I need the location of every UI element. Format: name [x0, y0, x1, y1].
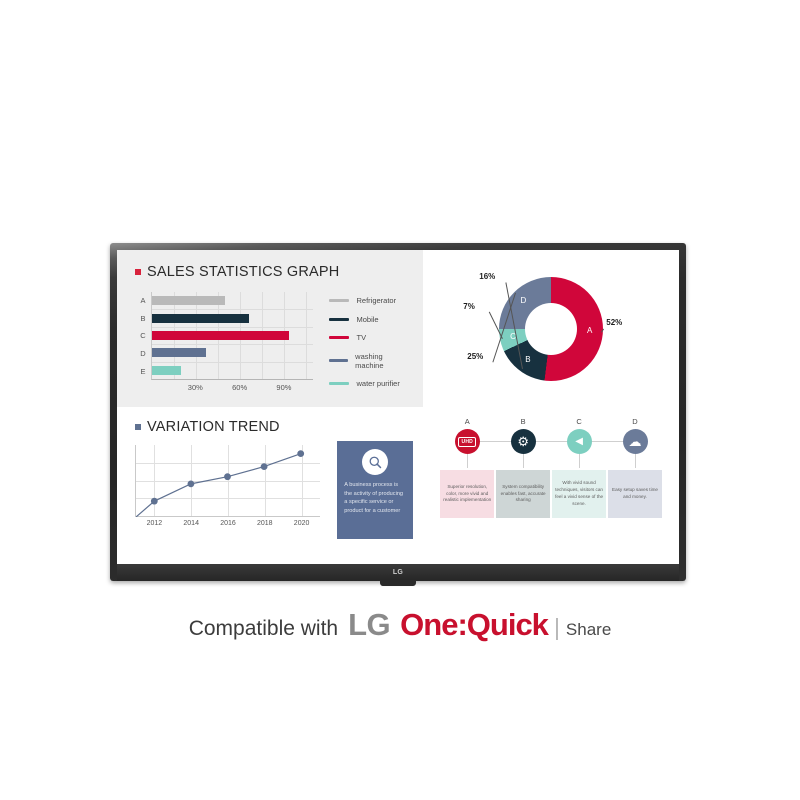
line-axis-tick-label: 2016 — [220, 520, 236, 527]
square-bullet-icon — [135, 269, 141, 275]
feature-card: Superior resolution, color, more vivid a… — [440, 470, 494, 518]
feature-letter: C — [576, 417, 581, 426]
feature-icon-column: B⚙ — [496, 417, 550, 468]
brand-line: Compatible with LG One:Quick | Share — [0, 607, 800, 643]
line-data-point — [188, 480, 195, 487]
feature-icon-column: D☁ — [608, 417, 662, 468]
line-plot — [135, 445, 320, 517]
legend-label: Mobile — [356, 315, 378, 324]
sales-chart-body: A B C D E 30%60%90% RefrigeratorMobileTV… — [135, 292, 409, 394]
legend-swatch — [329, 299, 349, 302]
line-data-point — [261, 463, 268, 470]
bar-axis-tick-label: 60% — [232, 383, 247, 392]
bar-category-label: B — [140, 314, 145, 323]
legend-swatch — [329, 382, 349, 385]
feature-letter: D — [632, 417, 637, 426]
speaker-icon[interactable]: ◀ — [567, 429, 592, 454]
icon-stem-line — [523, 454, 524, 468]
uhd-badge-icon[interactable]: UHD — [455, 429, 480, 454]
sales-statistics-panel: SALES STATISTICS GRAPH A B C D E — [117, 250, 423, 407]
feature-card-text: Superior resolution, color, more vivid a… — [443, 484, 491, 505]
variation-trend-content: VARIATION TREND 20122014201620182020 — [135, 419, 327, 558]
variation-trend-title: VARIATION TREND — [147, 419, 280, 435]
feature-card-text: With vivid sound techniques, visitors ca… — [555, 480, 603, 508]
bar-gridline — [152, 344, 313, 345]
network-icon[interactable]: ☁ — [623, 429, 648, 454]
legend-swatch — [329, 359, 348, 362]
bar-gridline — [306, 292, 307, 379]
bar-gridline — [152, 327, 313, 328]
line-data-point — [151, 498, 158, 505]
icon-stem-line — [579, 454, 580, 468]
feature-icon-row: AUHDB⚙C◀D☁ — [433, 417, 669, 468]
bar-chart-legend: RefrigeratorMobileTVwashing machinewater… — [329, 292, 409, 388]
bar-category-label: C — [140, 331, 145, 340]
bar-category-label: D — [140, 349, 145, 358]
brand-lg: LG — [348, 607, 390, 643]
legend-label: TV — [356, 333, 366, 342]
bar-category-label: E — [140, 367, 145, 376]
line-chart: 20122014201620182020 — [135, 445, 320, 530]
bar-chart-plot-area: A B C D E — [135, 292, 313, 380]
magnifier-icon — [362, 449, 388, 475]
brand-divider: | — [554, 614, 560, 641]
tv-sensor-tab — [380, 580, 416, 586]
bar-segment — [152, 348, 206, 357]
donut-percentage-label: 7% — [463, 302, 475, 311]
donut-percentage-label: 25% — [467, 352, 483, 361]
feature-icon-column: C◀ — [552, 417, 606, 468]
variation-trend-heading: VARIATION TREND — [135, 419, 327, 435]
uhd-text: UHD — [458, 437, 476, 447]
icon-connector-line — [475, 441, 627, 442]
business-process-text: A business process is the activity of pr… — [337, 475, 413, 516]
bar-segment — [152, 296, 225, 305]
sales-statistics-heading: SALES STATISTICS GRAPH — [135, 264, 409, 280]
legend-label: water purifier — [356, 379, 399, 388]
bar-value-axis: 30%60%90% — [151, 380, 313, 394]
bar-gridline — [152, 309, 313, 310]
bar-gridline — [152, 362, 313, 363]
line-data-point — [224, 473, 231, 480]
lg-bezel-logo: LG — [393, 569, 403, 576]
brand-share: Share — [566, 620, 611, 640]
brand-prefix: Compatible with — [189, 617, 338, 641]
bar-axis-tick-label: 90% — [276, 383, 291, 392]
gear-icon[interactable]: ⚙ — [511, 429, 536, 454]
bar-plot — [151, 292, 313, 380]
donut-percentage-label: 16% — [479, 272, 495, 281]
bar-category-axis: A B C D E — [135, 292, 151, 380]
feature-letter: B — [521, 417, 526, 426]
legend-label: Refrigerator — [356, 296, 396, 305]
feature-card: Easy setup saves time and money. — [608, 470, 662, 518]
icon-stem-line — [635, 454, 636, 468]
legend-item: Mobile — [329, 315, 409, 324]
brand-onequick: One:Quick — [400, 607, 548, 643]
magnifier-glyph — [368, 455, 383, 470]
television-unit: SALES STATISTICS GRAPH A B C D E — [110, 243, 686, 581]
line-axis-tick-label: 2012 — [147, 520, 163, 527]
sales-statistics-title: SALES STATISTICS GRAPH — [147, 264, 339, 280]
line-chart-x-axis: 20122014201620182020 — [136, 517, 320, 530]
line-series — [136, 445, 319, 517]
legend-label: washing machine — [355, 352, 409, 370]
bar-segment — [152, 366, 181, 375]
feature-card: System compatibility enables fast, accur… — [496, 470, 550, 518]
line-axis-tick-label: 2020 — [294, 520, 310, 527]
bar-segment — [152, 314, 249, 323]
tv-screen: SALES STATISTICS GRAPH A B C D E — [117, 250, 679, 564]
legend-item: Refrigerator — [329, 296, 409, 305]
bar-segment — [152, 331, 289, 340]
legend-swatch — [329, 336, 349, 339]
donut-hole — [525, 303, 577, 355]
feature-card-text: System compatibility enables fast, accur… — [499, 484, 547, 505]
feature-card: With vivid sound techniques, visitors ca… — [552, 470, 606, 518]
tv-bottom-bezel: LG — [117, 564, 679, 581]
network-icon-glyph: ☁ — [629, 434, 642, 450]
business-process-card: A business process is the activity of pr… — [337, 441, 413, 539]
donut-slice-label: B — [525, 355, 530, 364]
feature-card-text: Easy setup saves time and money. — [611, 487, 659, 501]
bar-chart: A B C D E 30%60%90% — [135, 292, 313, 394]
feature-letter: A — [465, 417, 470, 426]
legend-item: water purifier — [329, 379, 409, 388]
square-bullet-icon — [135, 424, 141, 430]
legend-swatch — [329, 318, 349, 321]
line-data-point — [297, 450, 304, 457]
features-panel: AUHDB⚙C◀D☁ Superior resolution, color, m… — [423, 407, 679, 564]
screen-right-column: ABCD 52%16%7%25% AUHDB⚙C◀D☁ Superior res… — [423, 250, 679, 564]
feature-card-row: Superior resolution, color, more vivid a… — [433, 470, 669, 518]
legend-item: TV — [329, 333, 409, 342]
speaker-icon-glyph: ◀ — [575, 436, 583, 447]
line-axis-tick-label: 2018 — [257, 520, 273, 527]
screen-left-column: SALES STATISTICS GRAPH A B C D E — [117, 250, 423, 564]
donut-percentage-label: 52% — [606, 318, 622, 327]
donut-slice-label: A — [587, 326, 592, 335]
feature-icon-column: AUHD — [440, 417, 494, 468]
bar-category-label: A — [140, 296, 145, 305]
icon-stem-line — [467, 454, 468, 468]
bar-axis-tick-label: 30% — [188, 383, 203, 392]
variation-trend-panel: VARIATION TREND 20122014201620182020 — [117, 407, 423, 564]
legend-item: washing machine — [329, 352, 409, 370]
gear-icon-glyph: ⚙ — [517, 434, 529, 450]
donut-slice-label: D — [521, 296, 527, 305]
donut-chart-panel: ABCD 52%16%7%25% — [423, 250, 679, 407]
line-axis-tick-label: 2014 — [183, 520, 199, 527]
